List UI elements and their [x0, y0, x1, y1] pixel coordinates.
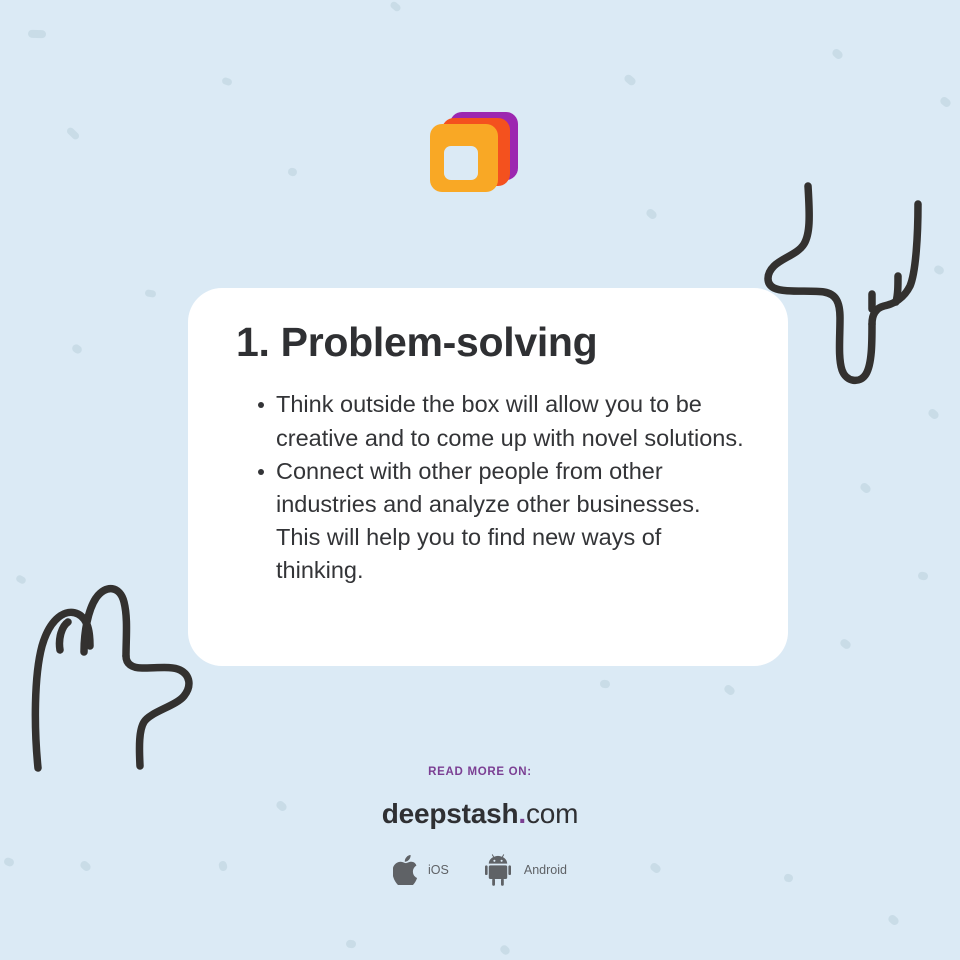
confetti-dash	[939, 95, 953, 108]
read-more-label: READ MORE ON:	[0, 766, 960, 778]
apple-icon	[393, 855, 419, 885]
confetti-dash	[71, 343, 84, 355]
confetti-dash	[831, 47, 845, 60]
store-badge-android[interactable]: Android	[485, 854, 567, 886]
confetti-dash	[723, 683, 737, 696]
confetti-dash	[623, 73, 637, 87]
confetti-dash	[144, 289, 156, 298]
confetti-dash	[66, 126, 81, 141]
confetti-dash	[839, 637, 853, 650]
brand-tld: com	[526, 798, 578, 829]
confetti-dash	[346, 940, 357, 949]
confetti-dash	[287, 167, 298, 177]
store-badges: iOS	[0, 854, 960, 886]
footer: READ MORE ON: deepstash.com iOS	[0, 766, 960, 886]
confetti-dash	[28, 30, 46, 39]
store-label-ios: iOS	[428, 863, 449, 877]
store-label-android: Android	[524, 863, 567, 877]
list-item: Think outside the box will allow you to …	[236, 388, 744, 454]
poster-canvas: 1. Problem-solving Think outside the box…	[0, 0, 960, 960]
pointing-hand-up-icon	[22, 560, 212, 782]
bullet-list: Think outside the box will allow you to …	[236, 388, 744, 587]
deepstash-logo-icon	[424, 104, 520, 200]
confetti-dash	[15, 574, 27, 585]
confetti-dash	[389, 0, 402, 12]
list-item: Connect with other people from other ind…	[236, 455, 744, 588]
confetti-dash	[599, 679, 610, 688]
confetti-dash	[859, 481, 873, 494]
confetti-dash	[645, 207, 659, 220]
page-title: 1. Problem-solving	[236, 318, 744, 366]
confetti-dash	[887, 913, 901, 926]
store-badge-ios[interactable]: iOS	[393, 855, 449, 885]
brand-dot: .	[518, 798, 526, 829]
android-icon	[485, 854, 515, 886]
brand-name: deepstash	[382, 798, 519, 829]
content-card: 1. Problem-solving Think outside the box…	[188, 288, 788, 666]
confetti-dash	[927, 407, 941, 420]
brand-wordmark[interactable]: deepstash.com	[0, 800, 960, 828]
confetti-dash	[499, 944, 512, 957]
confetti-dash	[933, 264, 946, 276]
confetti-dash	[221, 77, 233, 87]
confetti-dash	[917, 571, 928, 581]
